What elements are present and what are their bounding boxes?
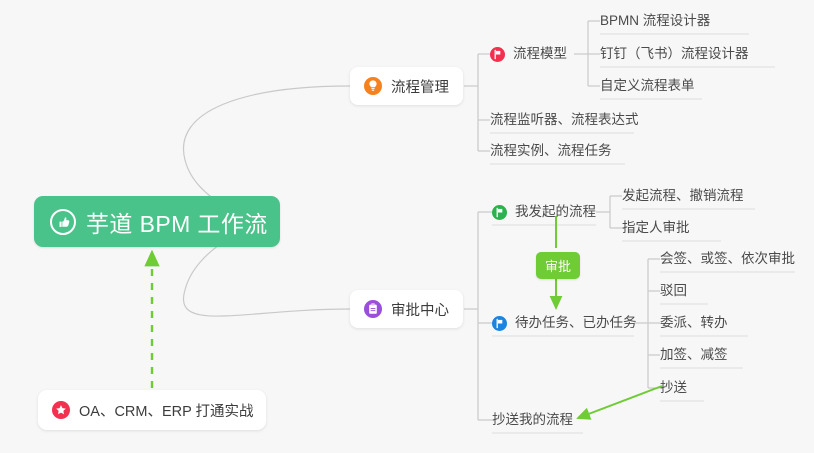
leaf-label: BPMN 流程设计器 [600, 8, 710, 34]
leaf-label: 自定义流程表单 [600, 73, 695, 99]
branch-label: 流程管理 [391, 76, 449, 97]
leaf-label: 流程模型 [513, 41, 567, 67]
leaf-instance-task[interactable]: 流程实例、流程任务 [490, 138, 612, 164]
mindmap-canvas: 芋道 BPM 工作流 流程管理 流程模型 BPMN 流程设计器 钉钉（飞书）流程 [0, 0, 814, 453]
leaf-dingtalk-feishu-designer[interactable]: 钉钉（飞书）流程设计器 [600, 41, 749, 67]
leaf-label: 抄送我的流程 [492, 407, 573, 433]
root-node[interactable]: 芋道 BPM 工作流 [34, 196, 280, 247]
leaf-cc[interactable]: 抄送 [660, 375, 687, 401]
leaf-label: 发起流程、撤销流程 [622, 183, 744, 209]
flag-icon [492, 205, 507, 220]
leaf-start-cancel-process[interactable]: 发起流程、撤销流程 [622, 183, 744, 209]
leaf-todo-done-tasks[interactable]: 待办任务、已办任务 [492, 310, 637, 336]
leaf-label: 流程实例、流程任务 [490, 138, 612, 164]
leaf-reject[interactable]: 驳回 [660, 278, 687, 304]
leaf-countersign[interactable]: 会签、或签、依次审批 [660, 246, 795, 272]
approval-annotation-label: 审批 [545, 259, 571, 274]
callout-card[interactable]: OA、CRM、ERP 打通实战 [38, 390, 266, 430]
leaf-my-started-processes[interactable]: 我发起的流程 [492, 199, 596, 225]
leaf-label: 抄送 [660, 375, 687, 401]
clipboard-icon [364, 300, 382, 318]
leaf-label: 驳回 [660, 278, 687, 304]
branch-approval-center[interactable]: 审批中心 [350, 290, 463, 328]
flag-icon [490, 47, 505, 62]
leaf-delegate-transfer[interactable]: 委派、转办 [660, 310, 728, 336]
leaf-label: 我发起的流程 [515, 199, 596, 225]
approval-annotation-badge: 审批 [536, 252, 580, 279]
lightbulb-icon [364, 77, 382, 95]
leaf-label: 委派、转办 [660, 310, 728, 336]
root-label: 芋道 BPM 工作流 [86, 205, 268, 239]
flag-icon [492, 316, 507, 331]
leaf-label: 会签、或签、依次审批 [660, 246, 795, 272]
leaf-label: 待办任务、已办任务 [515, 310, 637, 336]
thumbs-up-icon [50, 209, 76, 235]
star-icon [52, 401, 70, 419]
leaf-process-model[interactable]: 流程模型 [490, 41, 567, 67]
leaf-custom-process-form[interactable]: 自定义流程表单 [600, 73, 695, 99]
leaf-listener-expression[interactable]: 流程监听器、流程表达式 [490, 107, 639, 133]
leaf-label: 指定人审批 [622, 215, 690, 241]
leaf-cc-to-me[interactable]: 抄送我的流程 [492, 407, 573, 433]
callout-label: OA、CRM、ERP 打通实战 [79, 400, 254, 421]
leaf-label: 钉钉（飞书）流程设计器 [600, 41, 749, 67]
leaf-add-remove-sign[interactable]: 加签、减签 [660, 342, 728, 368]
leaf-label: 流程监听器、流程表达式 [490, 107, 639, 133]
leaf-assignee-approval[interactable]: 指定人审批 [622, 215, 690, 241]
leaf-bpmn-designer[interactable]: BPMN 流程设计器 [600, 8, 710, 34]
leaf-label: 加签、减签 [660, 342, 728, 368]
branch-process-management[interactable]: 流程管理 [350, 67, 463, 105]
branch-label: 审批中心 [391, 299, 449, 320]
